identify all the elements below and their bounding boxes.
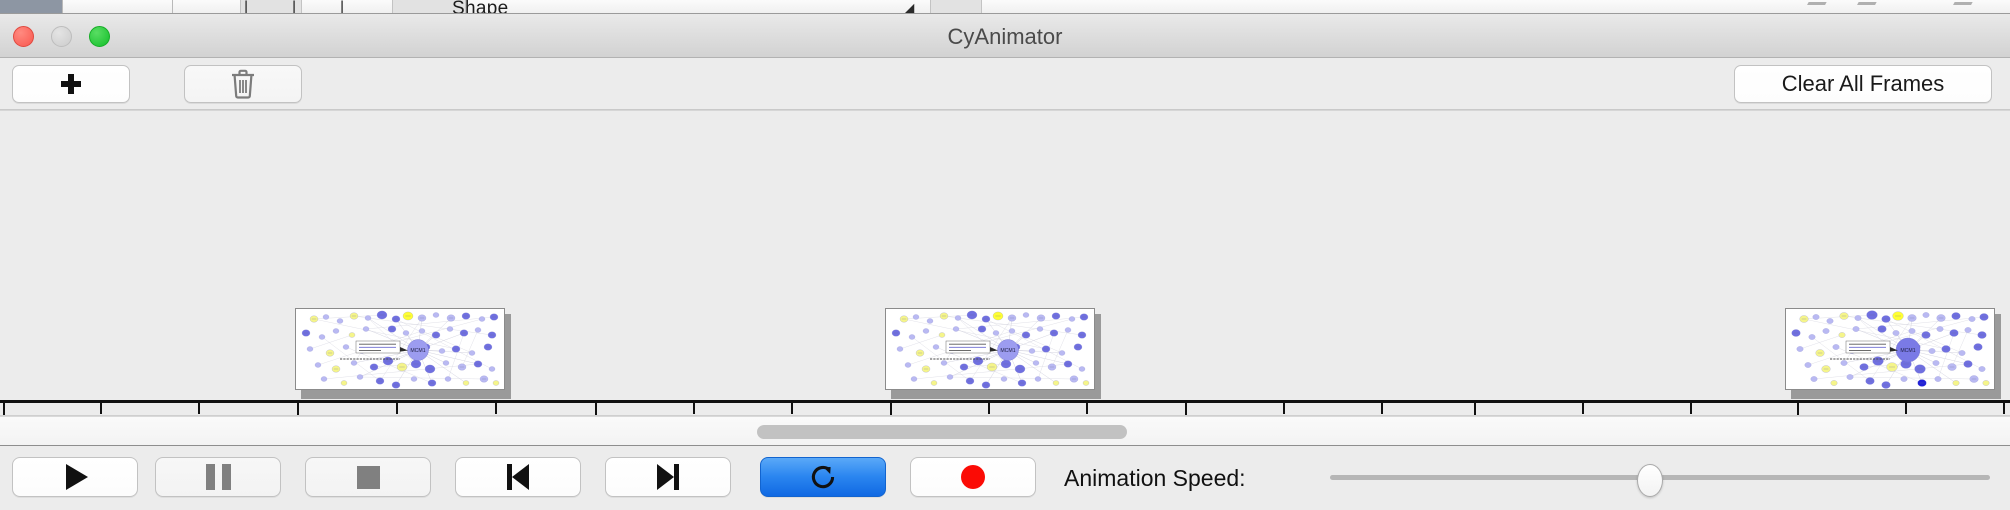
background-glyph: |	[292, 0, 296, 14]
timeline-horizontal-scrollbar[interactable]	[0, 416, 2010, 446]
axis-tick	[693, 403, 695, 414]
pause-icon	[206, 464, 231, 490]
axis-tick	[595, 403, 597, 416]
skip-forward-icon	[657, 464, 679, 490]
network-graph: MCM1	[1786, 309, 1994, 389]
axis-tick	[988, 403, 990, 414]
background-glyph: |	[244, 0, 248, 14]
background-divider	[62, 0, 63, 14]
background-chevron-icon	[1949, 2, 1972, 12]
background-cell	[930, 0, 982, 14]
axis-tick	[297, 403, 299, 416]
title-bar: CyAnimator	[0, 14, 2010, 58]
record-dot-icon	[961, 465, 985, 489]
frame-toolbar: Clear All Frames	[0, 58, 2010, 110]
axis-tick	[890, 403, 892, 416]
play-icon	[66, 464, 88, 490]
stop-button[interactable]	[305, 457, 431, 497]
axis-tick	[1185, 403, 1187, 416]
axis-tick	[3, 403, 5, 416]
axis-tick	[1381, 403, 1383, 414]
background-divider	[172, 0, 173, 14]
trash-icon	[230, 69, 256, 99]
axis-tick	[1797, 403, 1799, 416]
animation-speed-label: Animation Speed:	[1064, 465, 1246, 492]
svg-text:MCM1: MCM1	[410, 348, 425, 354]
axis-tick	[1283, 403, 1285, 414]
add-frame-button[interactable]	[12, 65, 130, 103]
play-button[interactable]	[12, 457, 138, 497]
axis-tick	[100, 403, 102, 414]
playback-control-bar: Animation Speed:	[0, 446, 2010, 508]
skip-to-start-button[interactable]	[455, 457, 581, 497]
background-chevron-icon	[1853, 2, 1876, 12]
frame-network-preview: MCM1	[1785, 308, 1995, 390]
axis-tick	[495, 403, 497, 414]
timeline-axis: 2131415161718 Seconds	[0, 400, 2010, 401]
background-window-label: Shape	[452, 0, 508, 14]
window-title: CyAnimator	[0, 24, 2010, 50]
timeline-frame-thumbnail[interactable]: MCM1	[295, 308, 511, 396]
svg-text:MCM1: MCM1	[1900, 348, 1915, 354]
slider-thumb[interactable]	[1637, 464, 1663, 497]
record-button[interactable]	[910, 457, 1036, 497]
frame-network-preview: MCM1	[295, 308, 505, 390]
clear-all-frames-button[interactable]: Clear All Frames	[1734, 65, 1992, 103]
svg-text:MCM1: MCM1	[1000, 348, 1015, 354]
background-chevron-icon	[1803, 2, 1826, 12]
cyanimator-window: CyAnimator Clear All Frames MCM1MCM1MCM1…	[0, 14, 2010, 510]
animation-speed-slider[interactable]	[1330, 457, 1990, 497]
axis-tick	[1474, 403, 1476, 416]
delete-frame-button[interactable]	[184, 65, 302, 103]
timeline-frame-thumbnail[interactable]: MCM1	[885, 308, 1101, 396]
axis-tick	[791, 403, 793, 414]
timeline-top-divider	[0, 110, 2010, 111]
axis-tick	[1690, 403, 1692, 414]
axis-tick	[1086, 403, 1088, 414]
scrollbar-thumb[interactable]	[757, 425, 1127, 439]
network-graph: MCM1	[886, 309, 1094, 389]
axis-baseline	[0, 400, 2010, 403]
axis-tick	[1905, 403, 1907, 414]
loop-button[interactable]	[760, 457, 886, 497]
background-selected-tab	[0, 0, 62, 14]
frame-network-preview: MCM1	[885, 308, 1095, 390]
skip-to-end-button[interactable]	[605, 457, 731, 497]
background-glyph: ◢	[902, 0, 914, 14]
loop-refresh-icon	[808, 462, 838, 492]
axis-tick	[1582, 403, 1584, 414]
axis-tick	[198, 403, 200, 414]
timeline-frame-thumbnail[interactable]: MCM1	[1785, 308, 2001, 396]
pause-button[interactable]	[155, 457, 281, 497]
timeline-panel[interactable]: MCM1MCM1MCM1 2131415161718 Seconds	[0, 110, 2010, 416]
skip-backward-icon	[507, 464, 529, 490]
stop-icon	[357, 466, 380, 489]
axis-tick	[2003, 403, 2005, 414]
clear-all-frames-label: Clear All Frames	[1782, 71, 1945, 97]
plus-icon	[61, 74, 81, 94]
network-graph: MCM1	[296, 309, 504, 389]
axis-tick	[396, 403, 398, 414]
background-glyph: |	[340, 0, 344, 14]
background-window-strip: | | | ◢ Shape	[0, 0, 2010, 14]
